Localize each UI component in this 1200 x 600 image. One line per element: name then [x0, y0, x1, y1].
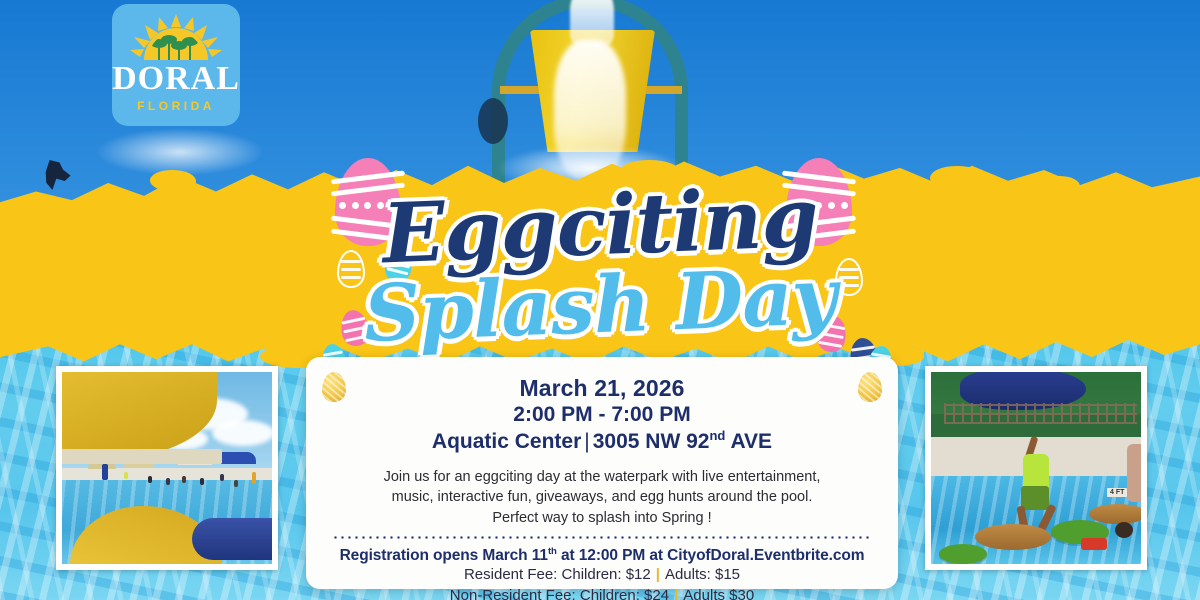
registration-ordinal: th — [548, 546, 557, 557]
photo-crowd — [252, 472, 256, 484]
venue-name: Aquatic Center — [432, 430, 581, 453]
event-venue: Aquatic Center|3005 NW 92nd AVE — [332, 428, 872, 455]
registration-post: at 12:00 PM at CityofDoral.Eventbrite.co… — [557, 547, 865, 564]
fee-separator: | — [651, 566, 665, 583]
photo-blue-tube-slide — [192, 518, 278, 560]
photo-log-float — [1089, 504, 1147, 524]
waterpark-photo-right: 4 FT — [925, 366, 1147, 570]
fee-separator: | — [669, 587, 683, 600]
description-line-3: Perfect way to splash into Spring ! — [332, 508, 872, 529]
photo-crowd — [182, 476, 186, 483]
event-description: Join us for an eggciting day at the wate… — [332, 467, 872, 529]
description-line-2: music, interactive fun, giveaways, and e… — [332, 487, 872, 508]
photo-crowd — [200, 478, 204, 485]
waterpark-photo-left — [56, 366, 278, 570]
venue-address-ordinal: nd — [709, 428, 725, 443]
photo-crowd — [220, 474, 224, 481]
dotted-divider — [332, 536, 872, 539]
venue-address-pre: 3005 NW 92 — [593, 430, 710, 453]
photo-log-float — [975, 524, 1051, 550]
bucket-wheel — [478, 98, 508, 144]
fee-nonresident-adults: Adults $30 — [683, 587, 754, 600]
photo-crowd — [148, 476, 152, 483]
egg-pattern-line — [851, 345, 875, 351]
photo-slide-platform — [56, 449, 222, 464]
event-time: 2:00 PM - 7:00 PM — [332, 402, 872, 427]
photo-crowd — [124, 472, 128, 479]
photo-crowd — [102, 464, 108, 480]
logo-wordmark: DORAL — [112, 62, 240, 96]
fee-nonresident-children: Non-Resident Fee: Children: $24 — [450, 587, 669, 600]
logo-subtitle: FLORIDA — [137, 99, 215, 113]
venue-separator: | — [581, 430, 592, 453]
flyer-title: Eggciting Splash Day — [0, 186, 1200, 345]
photo-lily-pad — [939, 544, 987, 564]
photo-red-float — [1081, 538, 1107, 550]
fee-resident-adults: Adults: $15 — [665, 566, 740, 583]
photo-cloud — [212, 420, 274, 446]
registration-pre: Registration opens March 11 — [340, 547, 548, 564]
fee-resident-children: Resident Fee: Children: $12 — [464, 566, 651, 583]
event-date: March 21, 2026 — [332, 375, 872, 402]
photo-swimmer-head — [1115, 522, 1133, 538]
photo-crowd — [234, 480, 238, 487]
photo-crowd — [166, 478, 170, 485]
gold-glitter-egg-right — [858, 372, 882, 402]
event-flyer: Eggciting Splash Day — [0, 0, 1200, 600]
venue-address-post: AVE — [725, 430, 772, 453]
photo-depth-marker: 4 FT — [1107, 488, 1127, 497]
photo-kid-shorts — [1021, 486, 1049, 510]
photo-person-right — [1127, 444, 1147, 502]
fee-nonresident: Non-Resident Fee: Children: $24|Adults $… — [332, 586, 872, 600]
sun-palm-icon — [130, 14, 222, 60]
fee-resident: Resident Fee: Children: $12|Adults: $15 — [332, 565, 872, 585]
doral-logo[interactable]: DORAL FLORIDA — [112, 4, 240, 126]
photo-cargo-net — [944, 403, 1137, 424]
description-line-1: Join us for an eggciting day at the wate… — [332, 467, 872, 488]
gold-glitter-egg-left — [322, 372, 346, 402]
event-info-card: March 21, 2026 2:00 PM - 7:00 PM Aquatic… — [306, 357, 898, 589]
registration-info: Registration opens March 11th at 12:00 P… — [332, 546, 872, 565]
